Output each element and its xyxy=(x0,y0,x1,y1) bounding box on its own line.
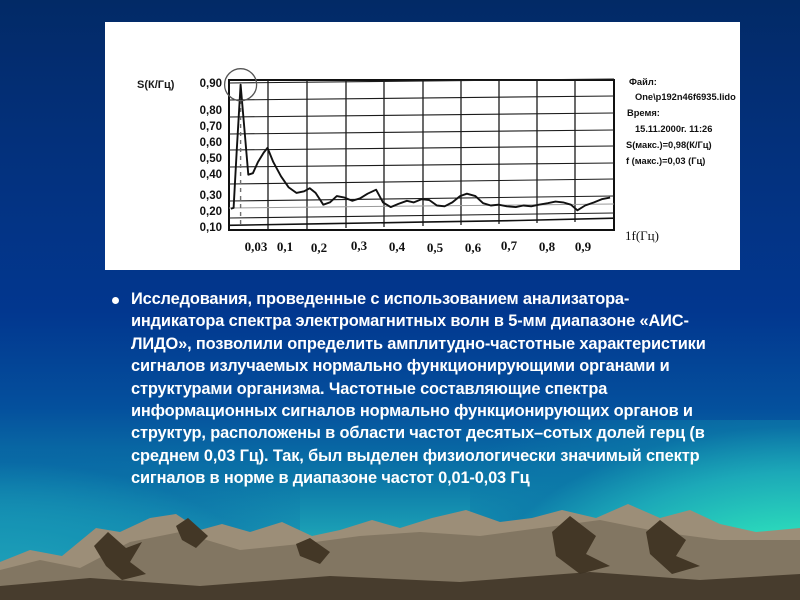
svg-text:0,70: 0,70 xyxy=(200,121,222,133)
svg-text:0,5: 0,5 xyxy=(427,240,444,255)
svg-text:0,6: 0,6 xyxy=(465,240,482,255)
svg-text:0,60: 0,60 xyxy=(200,137,222,149)
chart-image-panel: S(К/Гц) 0,90 0,80 0,70 0,60 0,50 0,40 0,… xyxy=(105,22,740,270)
svg-text:0,8: 0,8 xyxy=(539,239,556,254)
y-axis-title: S(К/Гц) xyxy=(137,79,175,91)
svg-text:0,30: 0,30 xyxy=(200,190,222,202)
svg-text:0,9: 0,9 xyxy=(575,239,592,254)
svg-text:0,4: 0,4 xyxy=(389,239,406,254)
svg-text:0,40: 0,40 xyxy=(200,169,222,181)
svg-text:0,7: 0,7 xyxy=(501,238,518,253)
x-axis-tick-labels: 0,03 0,1 0,2 0,3 0,4 0,5 0,6 0,7 0,8 0,9 xyxy=(245,238,592,255)
svg-text:0,10: 0,10 xyxy=(200,222,222,234)
annotation-time-value: 15.11.2000г. 11:26 xyxy=(635,124,712,134)
spectrum-chart: S(К/Гц) 0,90 0,80 0,70 0,60 0,50 0,40 0,… xyxy=(105,22,740,270)
bullet-dot-icon xyxy=(112,297,119,304)
body-bullet-block: Исследования, проведенные с использовани… xyxy=(112,288,712,490)
body-paragraph: Исследования, проведенные с использовани… xyxy=(131,288,712,490)
annotation-time-label: Время: xyxy=(627,108,660,118)
horizontal-gridlines xyxy=(229,79,614,218)
svg-text:0,50: 0,50 xyxy=(200,153,222,165)
presentation-slide: S(К/Гц) 0,90 0,80 0,70 0,60 0,50 0,40 0,… xyxy=(0,0,800,600)
annotation-file-label: Файл: xyxy=(629,77,657,87)
annotation-s-max: S(макс.)=0,98(К/Гц) xyxy=(626,140,712,150)
svg-text:0,1: 0,1 xyxy=(277,239,293,254)
baseline-curve xyxy=(229,218,614,225)
secondary-gridline xyxy=(229,204,614,208)
svg-text:0,90: 0,90 xyxy=(200,78,222,90)
svg-text:0,2: 0,2 xyxy=(311,240,327,255)
chart-annotation-block: Файл: One\p192n46f6935.lido Время: 15.11… xyxy=(626,77,736,166)
svg-text:0,03: 0,03 xyxy=(245,239,268,254)
annotation-f-max: f (макс.)=0,03 (Гц) xyxy=(626,156,705,166)
svg-text:0,20: 0,20 xyxy=(200,206,222,218)
annotation-file-value: One\p192n46f6935.lido xyxy=(635,92,736,102)
svg-text:0,3: 0,3 xyxy=(351,238,368,253)
y-axis-tick-labels: 0,90 0,80 0,70 0,60 0,50 0,40 0,30 0,20 … xyxy=(200,78,222,234)
svg-text:0,80: 0,80 xyxy=(200,105,222,117)
x-axis-title: 1f(Гц) xyxy=(625,228,659,243)
